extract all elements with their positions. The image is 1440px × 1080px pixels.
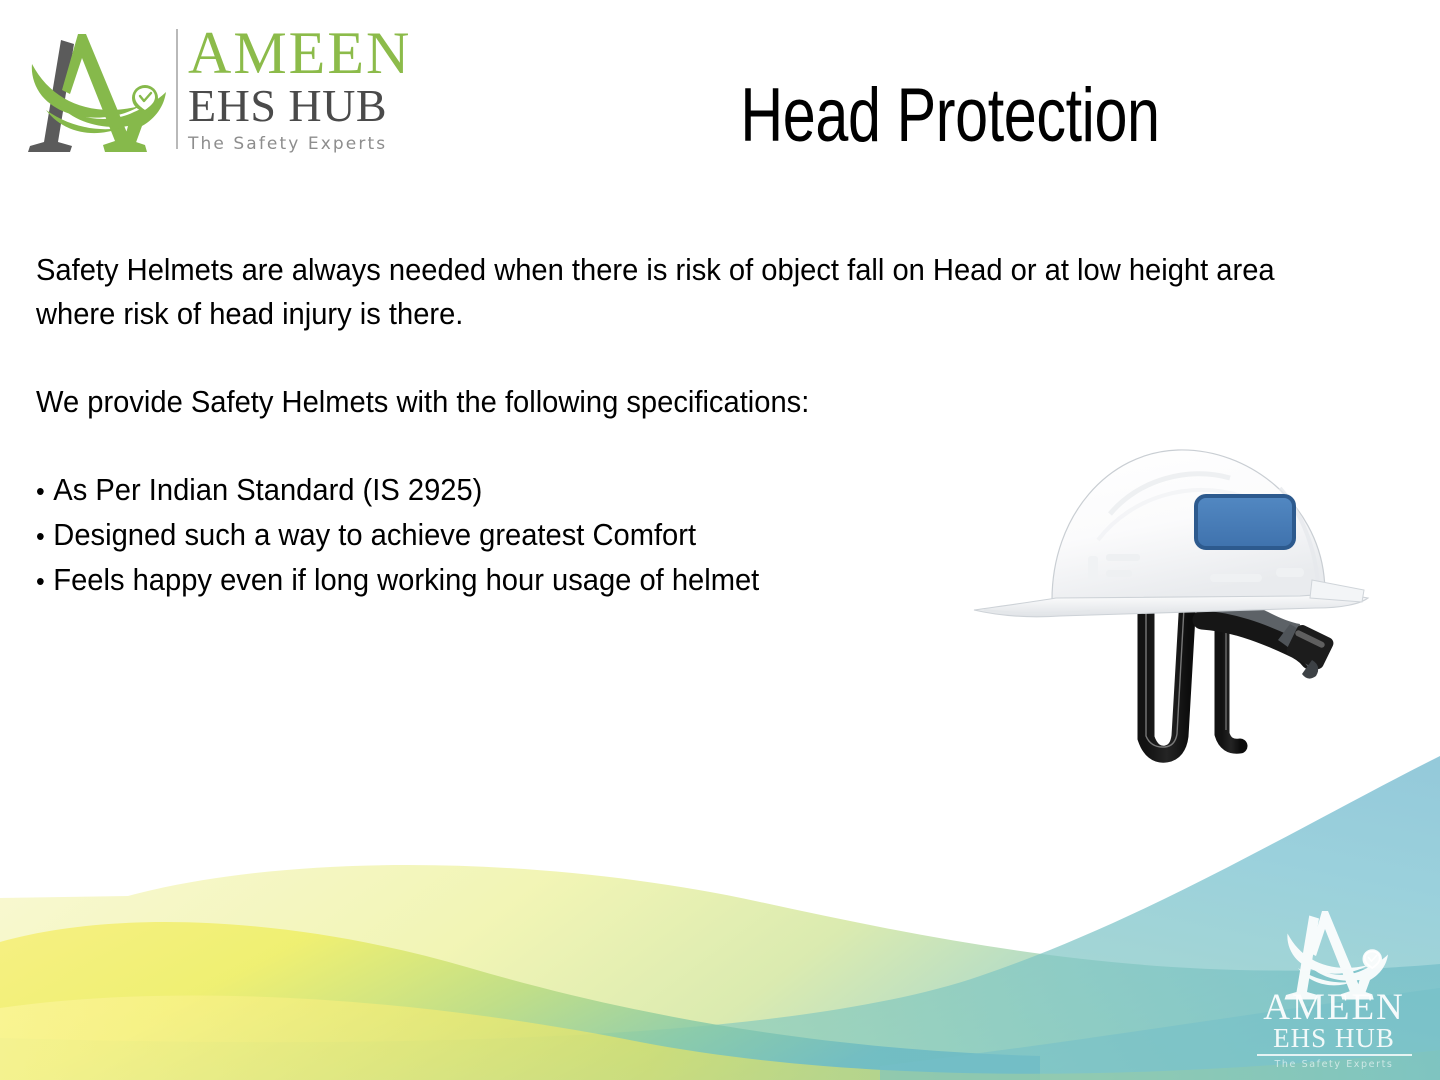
watermark-logo: AMEEN EHS HUB The Safety Experts	[1240, 896, 1428, 1074]
watermark-name-primary: AMEEN	[1263, 990, 1405, 1025]
logo-divider	[176, 29, 178, 149]
list-item-label: Designed such a way to achieve greatest …	[53, 513, 696, 557]
watermark-divider	[1257, 1054, 1412, 1056]
helmet-shell	[974, 450, 1368, 617]
chin-strap-group	[1146, 594, 1335, 755]
white-hard-hat-photo	[960, 408, 1390, 768]
brand-name-secondary: EHS HUB	[188, 83, 411, 129]
bullet-icon: •	[36, 469, 45, 513]
bullet-icon: •	[36, 559, 45, 603]
paragraph-spacer	[36, 336, 1335, 380]
decorative-wave-band	[0, 750, 1440, 1080]
bullet-icon: •	[36, 514, 45, 558]
brand-tagline: The Safety Experts	[188, 134, 411, 154]
intro-paragraph: Safety Helmets are always needed when th…	[36, 248, 1335, 336]
list-item-label: Feels happy even if long working hour us…	[53, 558, 759, 602]
list-item-label: As Per Indian Standard (IS 2925)	[53, 468, 482, 512]
brand-wordmark: AMEEN EHS HUB The Safety Experts	[188, 24, 411, 154]
helmet-badge	[1196, 496, 1294, 548]
brand-logo: AMEEN EHS HUB The Safety Experts	[14, 14, 474, 164]
ameen-a-bird-logo-icon	[14, 14, 174, 164]
brand-name-primary: AMEEN	[188, 26, 411, 81]
page-title: Head Protection	[583, 72, 1316, 159]
watermark-tagline: The Safety Experts	[1275, 1059, 1394, 1070]
watermark-name-secondary: EHS HUB	[1273, 1025, 1395, 1052]
ameen-a-bird-logo-icon	[1274, 896, 1394, 996]
